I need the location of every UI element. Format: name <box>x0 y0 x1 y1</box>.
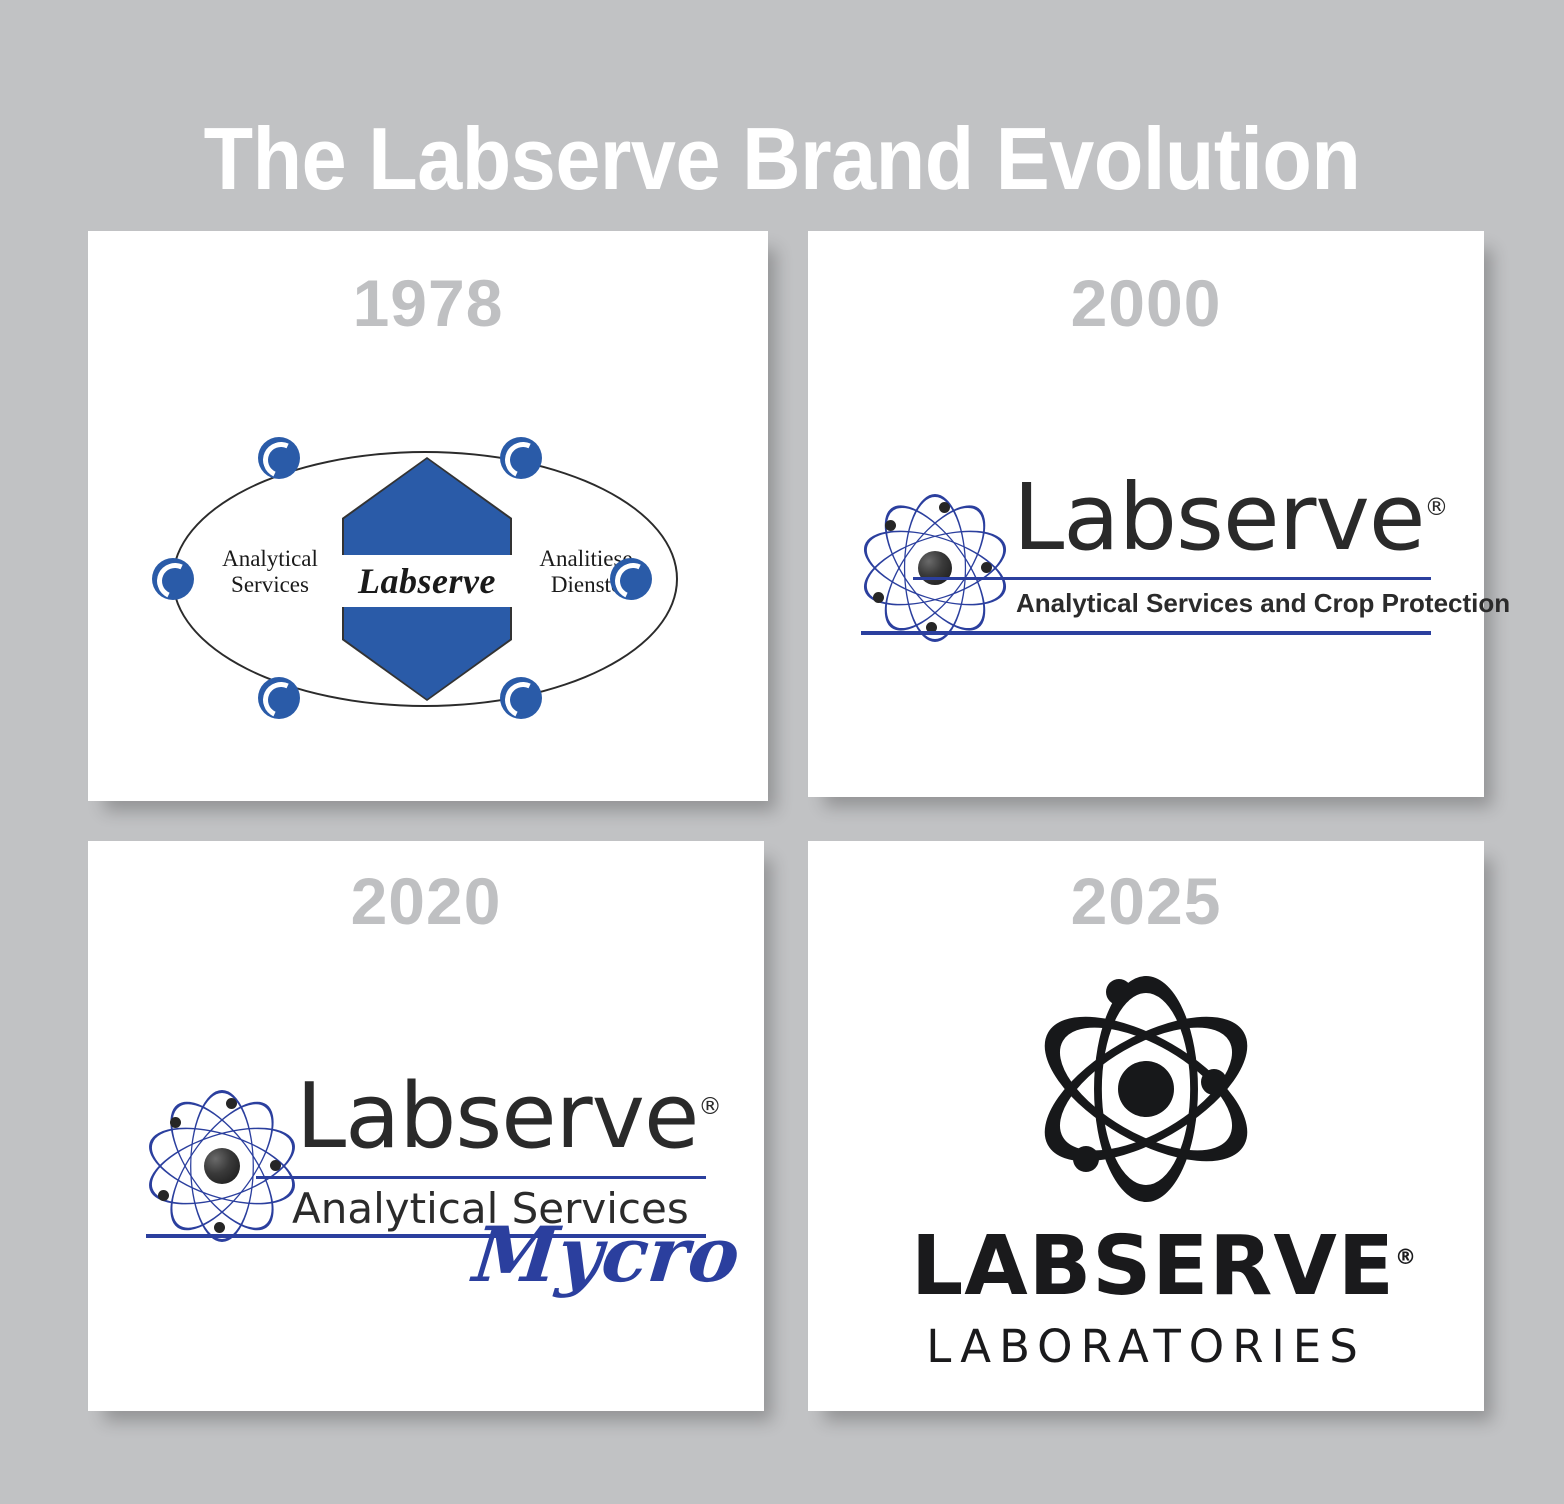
year-label-2020: 2020 <box>88 863 764 939</box>
atom-nucleus <box>204 1148 240 1184</box>
brand-card-2000[interactable]: 2000 <box>808 231 1484 797</box>
wordmark-text: Labserve <box>1013 464 1424 571</box>
atom-icon <box>146 1090 298 1242</box>
bead-icon <box>152 558 194 600</box>
atom-electron <box>1106 979 1132 1005</box>
divider-bottom <box>861 631 1431 635</box>
brand-card-2025[interactable]: 2025 LABSERVE® LABORATORIES <box>808 841 1484 1411</box>
wordmark-2020: Labserve® <box>296 1076 706 1159</box>
bead-icon <box>500 677 542 719</box>
atom-electron <box>873 592 884 603</box>
wordmark-2025: LABSERVE® <box>911 1226 1381 1308</box>
logo-2020: Labserve® Analytical Services Mycro <box>88 991 764 1391</box>
atom-electron <box>1201 1069 1227 1095</box>
atom-electron <box>226 1098 237 1109</box>
bead-icon <box>258 677 300 719</box>
divider-top <box>256 1176 706 1179</box>
atom-electron <box>981 562 992 573</box>
year-label-2000: 2000 <box>808 265 1484 341</box>
atom-electron <box>939 502 950 513</box>
bead-icon <box>610 558 652 600</box>
tagline-2000: Analytical Services and Crop Protection <box>1016 588 1510 619</box>
logo-2025: LABSERVE® LABORATORIES <box>808 961 1484 1391</box>
divider-top <box>913 577 1431 580</box>
atom-nucleus <box>1118 1061 1174 1117</box>
atom-electron <box>214 1222 225 1233</box>
year-label-2025: 2025 <box>808 863 1484 939</box>
wordmark-text: Labserve <box>296 1064 698 1169</box>
registered-icon: ® <box>1424 493 1448 521</box>
bead-icon <box>500 437 542 479</box>
year-label-1978: 1978 <box>88 265 768 341</box>
atom-electron <box>885 520 896 531</box>
registered-icon: ® <box>698 1092 721 1120</box>
logo-grid: 1978 Analytical Services Analitiese Dien… <box>0 0 1564 1504</box>
atom-electron <box>270 1160 281 1171</box>
atom-electron <box>158 1190 169 1201</box>
bead-icon <box>258 437 300 479</box>
hexagon-band: Labserve <box>328 555 526 607</box>
sub-brand-mycro: Mycro <box>469 1210 744 1299</box>
atom-icon <box>1033 976 1259 1202</box>
emblem-left-line1: Analytical <box>200 546 340 572</box>
brand-card-2020[interactable]: 2020 L <box>88 841 764 1411</box>
logo-1978: Analytical Services Analitiese Dienste L… <box>88 381 768 781</box>
registered-icon: ® <box>1395 1245 1416 1270</box>
oval-hexagon-emblem: Analytical Services Analitiese Dienste L… <box>158 441 698 721</box>
emblem-left-line2: Services <box>200 572 340 598</box>
wordmark-text: LABSERVE <box>911 1219 1395 1314</box>
logo-2000: Labserve® Analytical Services and Crop P… <box>808 371 1484 771</box>
wordmark-2000: Labserve® <box>1013 476 1431 561</box>
brand-card-1978[interactable]: 1978 Analytical Services Analitiese Dien… <box>88 231 768 801</box>
emblem-left-text: Analytical Services <box>200 546 340 598</box>
atom-icon <box>861 494 1009 642</box>
emblem-wordmark: Labserve <box>358 560 496 602</box>
tagline-2025: LABORATORIES <box>911 1324 1381 1369</box>
atom-electron <box>170 1117 181 1128</box>
atom-electron <box>1073 1146 1099 1172</box>
